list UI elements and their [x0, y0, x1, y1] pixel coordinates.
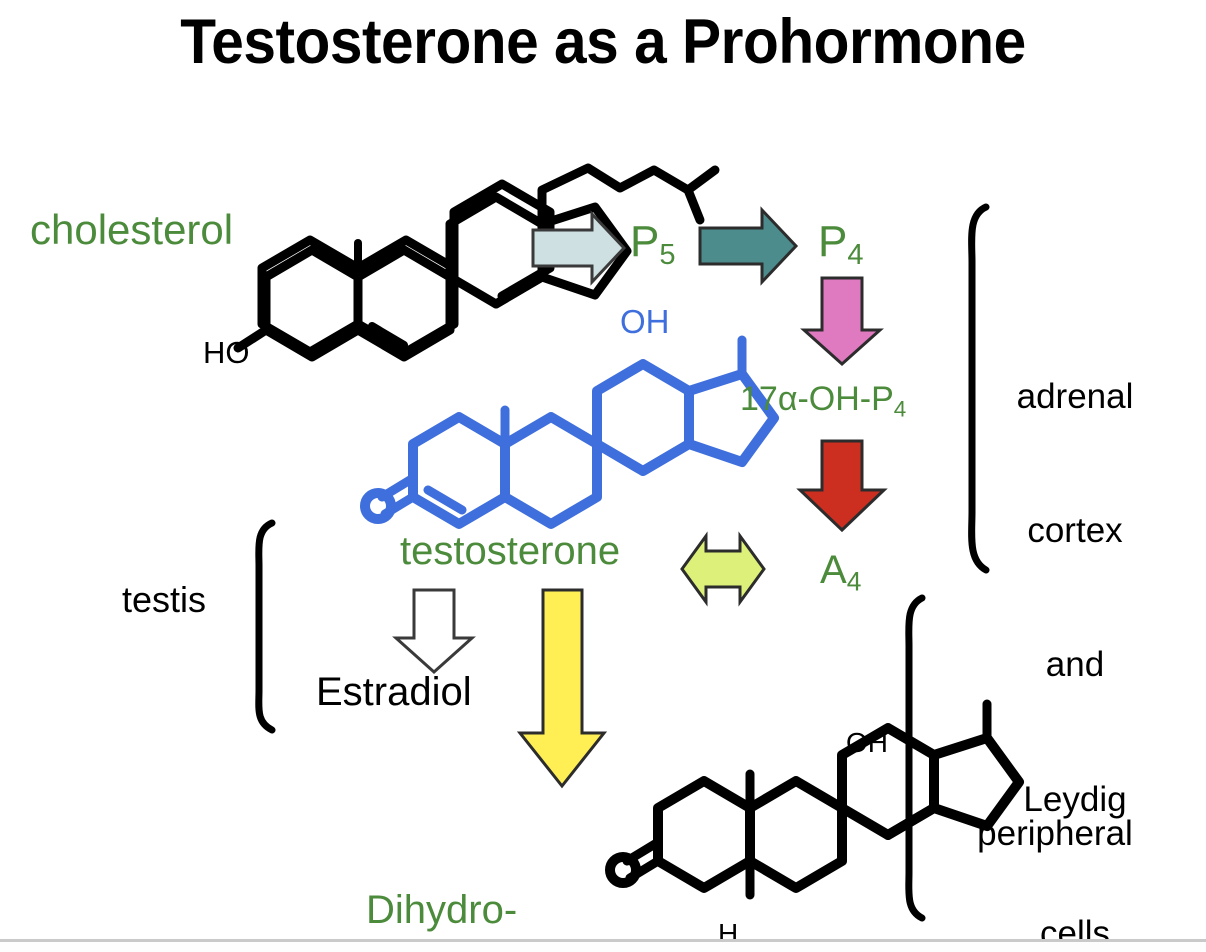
- label-testosterone: testosterone: [400, 530, 620, 573]
- arrow-17oh-p4-to-a4: [800, 441, 884, 530]
- label-17-alpha-oh-p4: 17α-OH-P4: [740, 381, 906, 422]
- label-p5: P5: [630, 218, 676, 271]
- arrow-testosterone-a4-reversible: [682, 536, 764, 602]
- label-p5-subscript: 5: [659, 239, 675, 271]
- atom-label-cholesterol-ho: HO: [203, 335, 250, 371]
- label-17-alpha-oh-p4-base: 17α-OH-P: [740, 380, 894, 418]
- testosterone-structure: [382, 340, 774, 524]
- label-testis: testis: [122, 581, 206, 620]
- label-dht-line-1: Dihydro-: [366, 884, 586, 937]
- atom-label-testosterone-oh: OH: [620, 303, 670, 341]
- label-17-alpha-oh-p4-subscript: 4: [894, 396, 906, 421]
- testis-bracket: [259, 523, 272, 730]
- label-p4-subscript: 4: [847, 239, 863, 271]
- label-peripheral-line-1: peripheral: [955, 812, 1155, 857]
- slide: Testosterone as a Prohormone cholesterol…: [0, 0, 1206, 952]
- arrow-testosterone-to-dht: [520, 590, 604, 786]
- arrow-p5-to-p4: [700, 210, 796, 282]
- adrenal-leydig-bracket: [972, 207, 986, 570]
- page-title: Testosterone as a Prohormone: [42, 8, 1164, 76]
- arrow-testosterone-to-estradiol: [396, 590, 472, 672]
- label-p4-base: P: [818, 217, 847, 266]
- arrow-p4-to-17oh-p4: [804, 278, 880, 364]
- label-peripheral-tissues: peripheral tissues: [955, 722, 1155, 952]
- label-cholesterol: cholesterol: [30, 207, 233, 252]
- atom-label-dht-oh: OH: [846, 727, 888, 759]
- label-adrenal-line-2: cortex: [995, 509, 1155, 554]
- cholesterol-structure: [262, 184, 550, 352]
- label-a4-subscript: 4: [847, 566, 862, 596]
- label-p5-base: P: [630, 217, 659, 266]
- label-a4: A4: [820, 549, 861, 596]
- slide-bottom-margin: [0, 942, 1206, 952]
- testosterone-ketone-oxygen: [365, 493, 391, 519]
- dht-ketone-oxygen: [610, 857, 636, 883]
- label-a4-base: A: [820, 548, 847, 592]
- label-dihydrotestosterone: Dihydro- testosterone [DHT]: [366, 778, 586, 952]
- label-adrenal-line-3: and: [995, 643, 1155, 688]
- peripheral-tissues-bracket: [909, 598, 922, 918]
- label-p4: P4: [818, 218, 864, 271]
- label-adrenal-line-1: adrenal: [995, 375, 1155, 420]
- label-estradiol: Estradiol: [316, 671, 472, 714]
